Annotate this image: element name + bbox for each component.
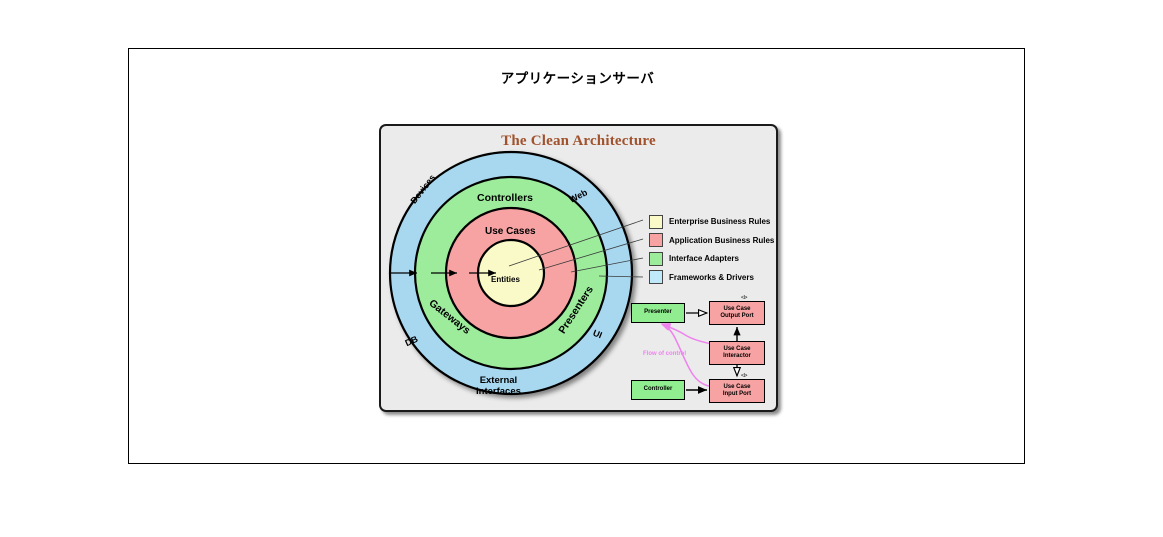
output-port-line1: Use Case: [720, 306, 753, 314]
ring-label-use-cases: Use Cases: [485, 226, 536, 238]
legend-item: Frameworks & Drivers: [649, 270, 774, 285]
legend: Enterprise Business Rules Application Bu…: [649, 214, 774, 288]
ring-label-entities: Entities: [491, 275, 520, 284]
flow-box-controller: Controller: [631, 380, 685, 400]
external-interfaces-line2: Interfaces: [476, 387, 521, 398]
interactor-line1: Use Case: [723, 346, 751, 354]
flow-of-control-diagram: Presenter Use Case Output Port <I> Use C…: [629, 298, 775, 410]
interface-stereotype-output-port: <I>: [741, 295, 747, 301]
flow-box-presenter: Presenter: [631, 303, 685, 323]
legend-label: Enterprise Business Rules: [669, 217, 770, 226]
legend-swatch-enterprise-business-rules: [649, 215, 663, 229]
legend-label: Application Business Rules: [669, 236, 774, 245]
legend-item: Enterprise Business Rules: [649, 214, 774, 229]
flow-of-control-label: Flow of control: [643, 351, 686, 357]
legend-swatch-interface-adapters: [649, 252, 663, 266]
interface-stereotype-input-port: <I>: [741, 373, 747, 379]
legend-swatch-application-business-rules: [649, 233, 663, 247]
clean-architecture-diagram: The Clean Architecture: [379, 124, 778, 412]
flow-box-use-case-input-port: Use Case Input Port: [709, 379, 765, 403]
page-title: アプリケーションサーバ: [129, 67, 1026, 87]
legend-label: Frameworks & Drivers: [669, 273, 754, 282]
legend-item: Application Business Rules: [649, 233, 774, 248]
flow-box-use-case-output-port: Use Case Output Port: [709, 301, 765, 325]
legend-label: Interface Adapters: [669, 254, 739, 263]
ring-label-controllers: Controllers: [477, 192, 533, 204]
flow-box-use-case-interactor: Use Case Interactor: [709, 341, 765, 365]
page-frame: アプリケーションサーバ The Clean Architecture: [128, 48, 1025, 464]
interactor-line2: Interactor: [723, 353, 751, 361]
input-port-line2: Input Port: [723, 391, 751, 399]
ring-label-external-interfaces: External Interfaces: [476, 376, 521, 398]
output-port-line2: Output Port: [720, 313, 753, 321]
legend-item: Interface Adapters: [649, 251, 774, 266]
legend-swatch-frameworks-drivers: [649, 270, 663, 284]
input-port-line1: Use Case: [723, 384, 751, 392]
